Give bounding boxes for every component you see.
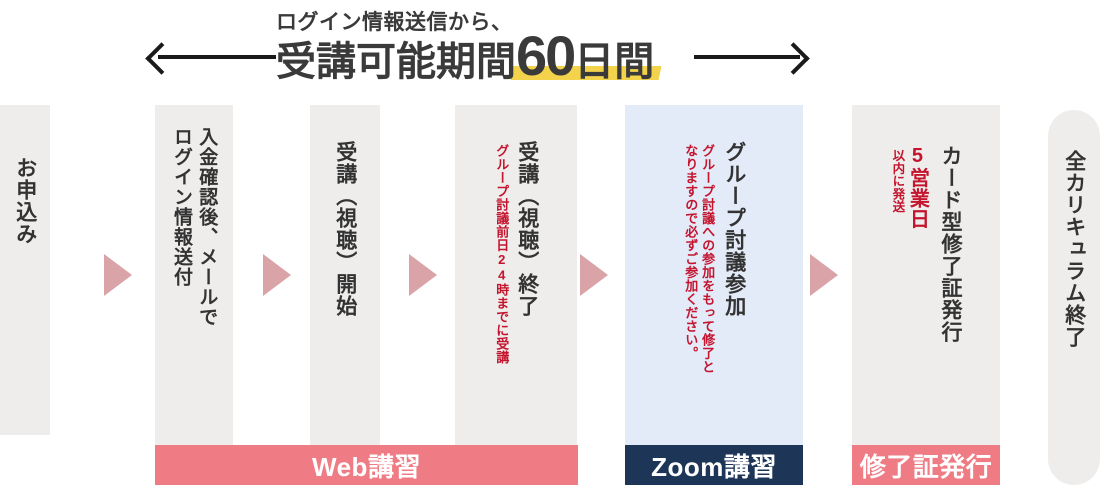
step-curriculum-end-label: 全カリキュラム終了 (1062, 150, 1086, 348)
step-login-info[interactable]: 入金確認後、メールで ログイン情報送付 (155, 105, 233, 445)
step-viewing-start-label: 受講（視聴）開始 (333, 141, 357, 317)
header-highlight-group: 60日間 (516, 30, 654, 82)
step-login-info-label-2: ログイン情報送付 (171, 127, 192, 287)
step-viewing-start[interactable]: 受講（視聴）開始 (310, 105, 380, 445)
header-title: 受講可能期間 60日間 (276, 30, 654, 82)
step-certificate-label: カード型修了証発行 (938, 145, 962, 343)
step-curriculum-end[interactable]: 全カリキュラム終了 (1048, 110, 1100, 485)
step-certificate[interactable]: カード型修了証発行 5営業日 以内に発送 (852, 105, 1000, 445)
flow-arrow-1 (104, 254, 132, 296)
header-days-unit: 日間 (574, 40, 654, 84)
flow-arrow-3 (409, 254, 437, 296)
step-certificate-note-group: 5営業日 以内に発送 (890, 145, 928, 229)
flow-arrow-5 (810, 254, 838, 296)
step-viewing-end[interactable]: 受講（視聴）終了 グループ討議前日24時までに受講 (455, 105, 577, 445)
step-certificate-note-ship: 以内に発送 (890, 149, 904, 213)
step-login-info-label-1: 入金確認後、メールで (196, 127, 217, 327)
right-arrow-icon (777, 42, 810, 75)
step-group-discussion-note-2: なりますので必ずご参加ください。 (682, 144, 697, 360)
step-application[interactable]: お申込み (0, 105, 50, 435)
step-viewing-end-label: 受講（視聴）終了 (515, 141, 539, 317)
phase-label-zoom: Zoom講習 (625, 445, 803, 485)
flow-diagram: ログイン情報送信から、 受講可能期間 60日間 お申込み 入金確認後、メールで … (0, 0, 1100, 500)
step-group-discussion[interactable]: グループ討議参加 グループ討議への参加をもって修了と なりますので必ずご参加くだ… (625, 105, 803, 445)
duration-header: ログイン情報送信から、 受講可能期間 60日間 (0, 0, 1100, 95)
flow-arrow-4 (580, 254, 608, 296)
step-application-label: お申込み (13, 157, 37, 245)
step-group-discussion-note-1: グループ討議への参加をもって修了と (699, 144, 714, 374)
phase-label-certificate: 修了証発行 (852, 445, 1000, 485)
step-group-discussion-label: グループ討議参加 (722, 141, 746, 317)
flow-arrow-2 (263, 254, 291, 296)
step-viewing-end-note: グループ討議前日24時までに受講 (493, 144, 508, 364)
header-days-number: 60 (516, 24, 574, 87)
left-arrow-icon (145, 42, 178, 75)
header-period-label: 受講可能期間 (276, 42, 516, 82)
step-certificate-note-days: 5営業日 (906, 145, 928, 229)
phase-label-web: Web講習 (155, 445, 578, 485)
